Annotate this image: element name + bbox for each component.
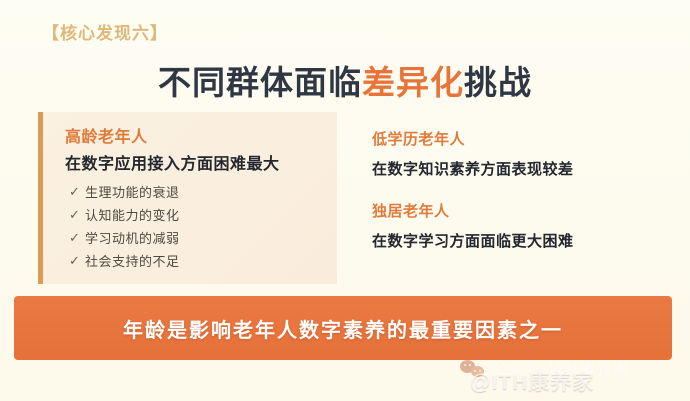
card-bullet-list: ✓ 生理功能的衰退 ✓ 认知能力的变化 ✓ 学习动机的减弱 ✓ 社会支持的不足: [69, 180, 180, 272]
list-item-label: 社会支持的不足: [85, 251, 180, 270]
group-low-education: 低学历老年人 在数字知识素养方面表现较差: [372, 128, 662, 179]
page-title: 不同群体面临差异化挑战: [0, 56, 690, 104]
card-heading: 高龄老年人: [65, 123, 148, 147]
list-item: ✓ 社会支持的不足: [69, 249, 180, 272]
page-title-tail: 挑战: [464, 64, 532, 101]
check-icon: ✓: [69, 253, 85, 269]
group-subheading: 在数字知识素养方面表现较差: [372, 158, 662, 179]
list-item: ✓ 认知能力的变化: [69, 203, 180, 226]
conclusion-banner-text: 年龄是影响老年人数字素养的最重要因素之一: [123, 314, 563, 343]
wechat-icon: [460, 360, 486, 378]
list-item-label: 学习动机的减弱: [85, 228, 180, 247]
right-groups-column: 低学历老年人 在数字知识素养方面表现较差 独居老年人 在数字学习方面面临更大困难: [372, 128, 662, 272]
section-kicker: 【核心发现六】: [42, 19, 168, 44]
list-item-label: 认知能力的变化: [85, 205, 180, 224]
elderly-group-card: 高龄老年人 在数字应用接入方面困难最大 ✓ 生理功能的衰退 ✓ 认知能力的变化 …: [38, 112, 337, 284]
page-title-lead: 不同群体面临: [158, 64, 362, 101]
wechat-watermark-label: 公众号 ITH康养家: [492, 358, 630, 379]
list-item: ✓ 学习动机的减弱: [69, 226, 180, 249]
list-item: ✓ 生理功能的衰退: [69, 180, 180, 203]
group-heading: 独居老年人: [372, 200, 662, 221]
page-title-accent: 差异化: [362, 64, 464, 101]
card-subheading: 在数字应用接入方面困难最大: [65, 150, 280, 174]
wechat-watermark: 公众号 ITH康养家: [460, 358, 630, 379]
check-icon: ✓: [69, 184, 85, 200]
group-subheading: 在数字学习方面面临更大困难: [372, 230, 662, 251]
group-heading: 低学历老年人: [372, 128, 662, 149]
account-watermark: @ITH康养家: [470, 366, 594, 396]
slide-canvas: 【核心发现六】 不同群体面临差异化挑战 高龄老年人 在数字应用接入方面困难最大 …: [0, 0, 690, 401]
check-icon: ✓: [69, 230, 85, 246]
conclusion-banner: 年龄是影响老年人数字素养的最重要因素之一: [14, 296, 672, 360]
list-item-label: 生理功能的衰退: [85, 182, 180, 201]
check-icon: ✓: [69, 207, 85, 223]
group-living-alone: 独居老年人 在数字学习方面面临更大困难: [372, 200, 662, 251]
